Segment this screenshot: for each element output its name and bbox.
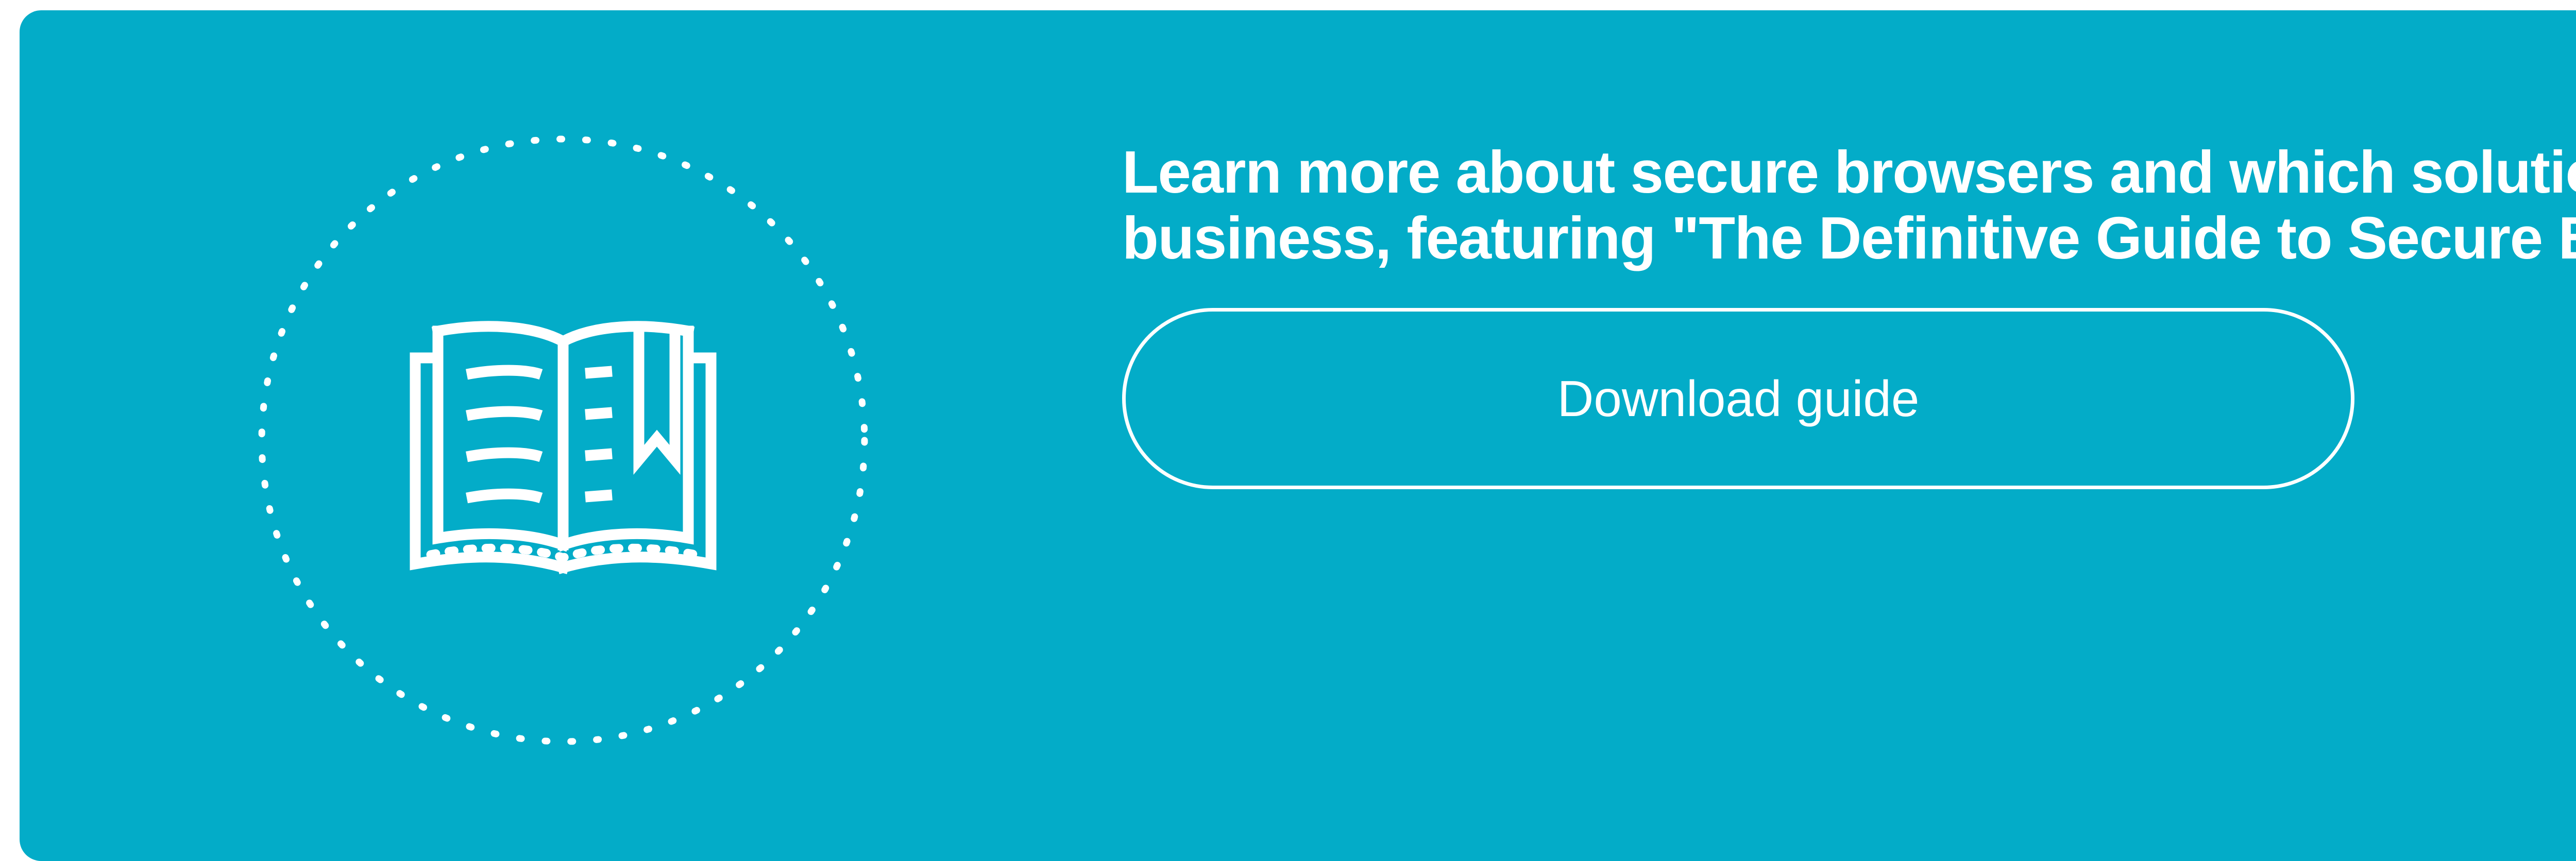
icon-badge	[242, 119, 884, 761]
cta-content: Learn more about secure browsers and whi…	[1122, 139, 2576, 489]
open-book-icon	[406, 296, 720, 584]
headline: Learn more about secure browsers and whi…	[1122, 139, 2576, 271]
download-guide-button[interactable]: Download guide	[1122, 308, 2354, 489]
cta-banner: Learn more about secure browsers and whi…	[20, 10, 2576, 861]
